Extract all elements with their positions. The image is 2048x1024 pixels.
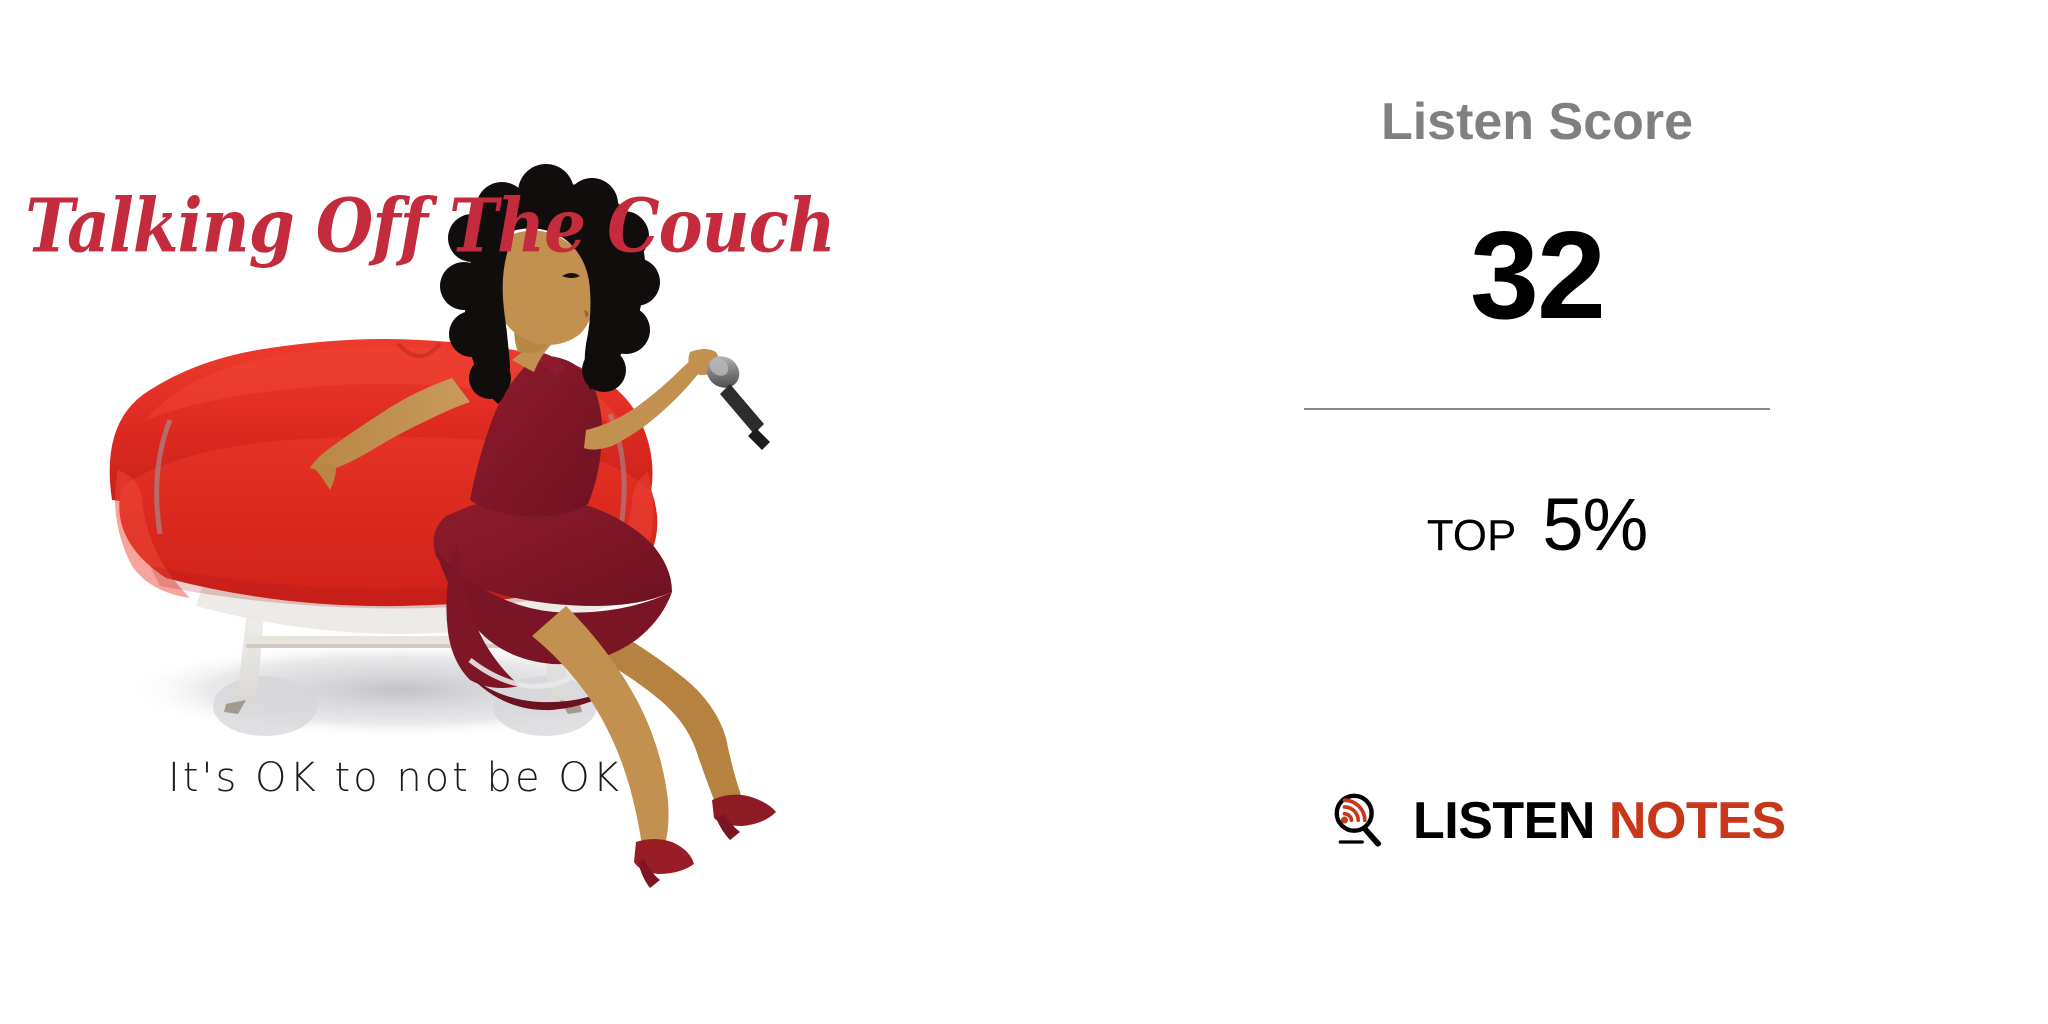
listen-score-value: 32 xyxy=(1304,214,1770,338)
listen-score-panel: Listen Score 32 TOP 5% xyxy=(1024,0,2048,1024)
listen-notes-wordmark: LISTENNOTES xyxy=(1413,795,1786,847)
score-divider xyxy=(1304,408,1770,410)
brand-word-listen: LISTEN xyxy=(1413,792,1595,850)
listen-notes-rss-magnifier-icon xyxy=(1329,790,1391,852)
brand-word-notes: NOTES xyxy=(1609,792,1786,850)
rank-top-label: TOP xyxy=(1427,511,1517,561)
listen-score-card: Talking Off The Couch It's OK to not be … xyxy=(0,0,2048,1024)
cover-title: Talking Off The Couch xyxy=(0,182,860,269)
podcast-cover-art[interactable]: Talking Off The Couch It's OK to not be … xyxy=(0,0,1024,1024)
microphone xyxy=(700,350,770,450)
global-rank-row: TOP 5% xyxy=(1304,482,1770,567)
cover-illustration xyxy=(0,0,1024,1024)
score-content: Listen Score 32 TOP 5% xyxy=(1304,96,1770,567)
rank-percentile-value: 5% xyxy=(1542,482,1647,567)
listen-score-label: Listen Score xyxy=(1304,96,1770,148)
cover-tagline: It's OK to not be OK xyxy=(0,755,790,801)
listen-notes-logo[interactable]: LISTENNOTES xyxy=(1329,790,1786,852)
